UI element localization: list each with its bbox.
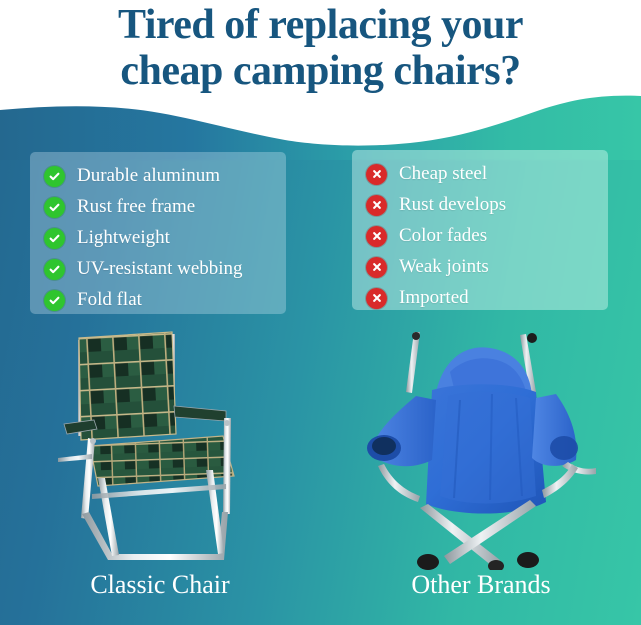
check-circle-icon	[44, 228, 65, 249]
cross-circle-icon	[366, 195, 387, 216]
cons-list: Cheap steel Rust develops Color fades We…	[366, 160, 596, 312]
check-circle-icon	[44, 166, 65, 187]
list-item: Imported	[366, 284, 596, 312]
cross-circle-icon	[366, 226, 387, 247]
check-circle-icon	[44, 259, 65, 280]
cross-circle-icon	[366, 164, 387, 185]
other-brands-caption: Other Brands	[350, 570, 612, 600]
list-item-label: Weak joints	[399, 256, 489, 278]
pros-list: Durable aluminum Rust free frame Lightwe…	[44, 162, 274, 314]
list-item: Weak joints	[366, 253, 596, 281]
title-line-2: cheap camping chairs?	[0, 48, 641, 94]
list-item-label: Lightweight	[77, 227, 170, 249]
list-item: UV-resistant webbing	[44, 255, 274, 283]
list-item: Rust free frame	[44, 193, 274, 221]
list-item-label: Color fades	[399, 225, 487, 247]
list-item: Cheap steel	[366, 160, 596, 188]
list-item-label: UV-resistant webbing	[77, 258, 243, 280]
pros-panel: Durable aluminum Rust free frame Lightwe…	[30, 152, 286, 314]
classic-chair-caption: Classic Chair	[30, 570, 290, 600]
list-item-label: Durable aluminum	[77, 165, 220, 187]
title-line-1: Tired of replacing your	[0, 2, 641, 48]
list-item: Durable aluminum	[44, 162, 274, 190]
list-item: Color fades	[366, 222, 596, 250]
list-item: Lightweight	[44, 224, 274, 252]
list-item-label: Rust free frame	[77, 196, 195, 218]
list-item: Rust develops	[366, 191, 596, 219]
list-item-label: Cheap steel	[399, 163, 487, 185]
cons-panel: Cheap steel Rust develops Color fades We…	[352, 150, 608, 310]
list-item: Fold flat	[44, 286, 274, 314]
check-circle-icon	[44, 197, 65, 218]
list-item-label: Rust develops	[399, 194, 506, 216]
classic-chair-image	[48, 328, 284, 568]
other-brands-chair-image	[340, 330, 602, 570]
cross-circle-icon	[366, 257, 387, 278]
page-title: Tired of replacing your cheap camping ch…	[0, 2, 641, 94]
list-item-label: Imported	[399, 287, 469, 309]
comparison-infographic: Tired of replacing your cheap camping ch…	[0, 0, 641, 625]
list-item-label: Fold flat	[77, 289, 142, 311]
check-circle-icon	[44, 290, 65, 311]
cross-circle-icon	[366, 288, 387, 309]
